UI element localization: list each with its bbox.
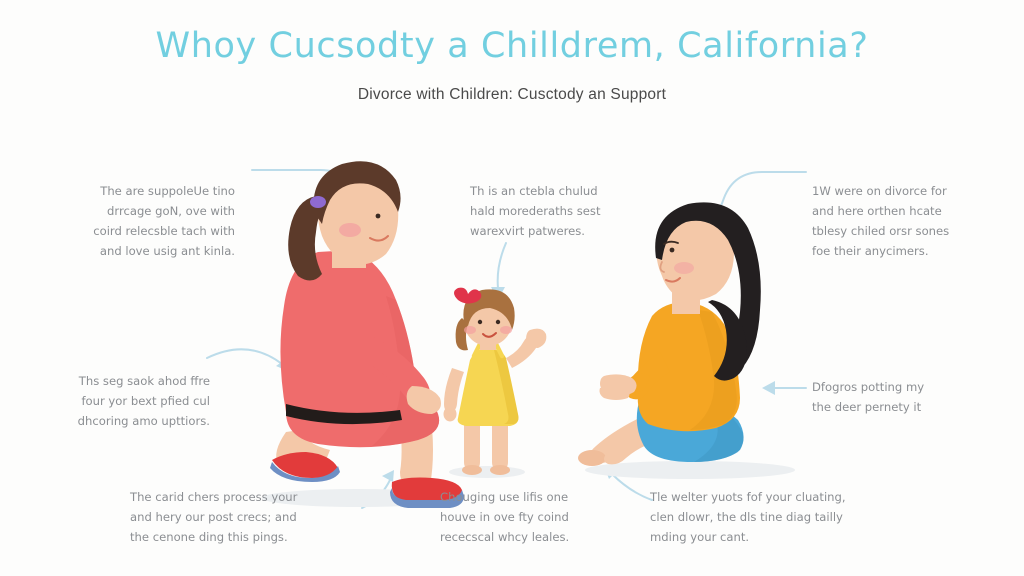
note-middle-left: Ths seg saok ahod ffre four yor bext pfi… <box>20 372 210 432</box>
standing-child <box>444 288 547 475</box>
arrow-mid-left <box>207 349 290 372</box>
arrow-mid-right <box>762 381 806 395</box>
note-bottom-left: The carid chers process your and hery ou… <box>130 488 345 548</box>
note-bottom-center: Chouging use lifis one houve in ove fty … <box>440 488 615 548</box>
note-top-right: 1W were on divorce for and here orthen h… <box>812 182 1002 262</box>
seated-woman <box>578 202 761 466</box>
shadow-child <box>449 466 525 478</box>
note-top-center: Th is an ctebla chulud hald morederaths … <box>470 182 650 242</box>
infographic-canvas: Whoy Cucsodty a Chilldrem, California? D… <box>0 0 1024 576</box>
note-top-left: The are suppoleUe tino drrcage goN, ove … <box>20 182 235 262</box>
note-middle-right: Dfogros potting my the deer pernety it <box>812 378 1002 418</box>
note-bottom-right: Tle welter yuots fof your cluating, clen… <box>650 488 905 548</box>
kneeling-mother <box>270 161 464 508</box>
